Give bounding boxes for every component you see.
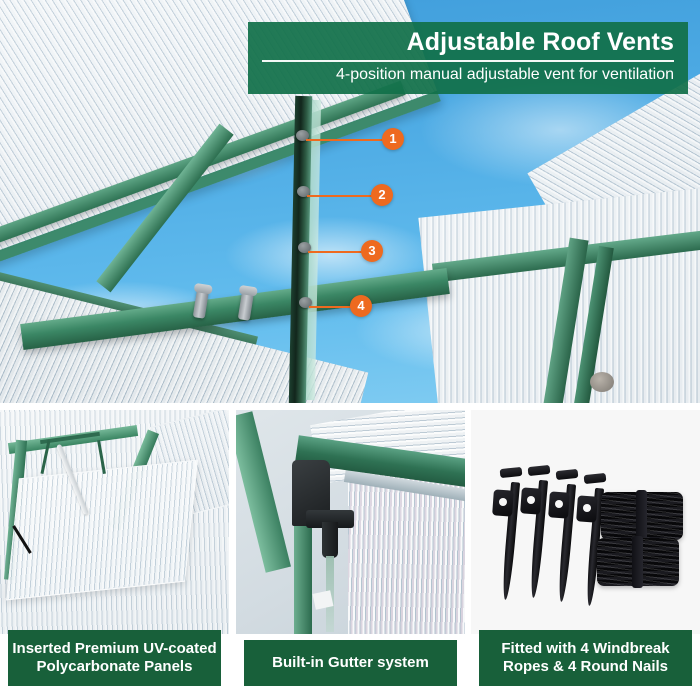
banner-title: Adjustable Roof Vents: [262, 29, 674, 55]
rope-band: [636, 490, 647, 542]
callout-line-1: [306, 139, 392, 141]
roof-vent-panel-photo: [0, 410, 229, 634]
gutter-downspout-photo: [236, 410, 465, 634]
feature-panel-accessories: Fitted with 4 Windbreak Ropes & 4 Round …: [471, 410, 700, 696]
frame-fastener-right: [590, 372, 614, 392]
feature-panel-polycarbonate: Inserted Premium UV-coated Polycarbonate…: [0, 410, 229, 696]
rope-band: [632, 536, 643, 588]
callout-badge-2: 2: [371, 184, 393, 206]
callout-badge-4: 4: [350, 295, 372, 317]
banner-subtitle: 4-position manual adjustable vent for ve…: [262, 66, 674, 84]
panel-caption-polycarbonate: Inserted Premium UV-coated Polycarbonate…: [8, 630, 221, 686]
panel-caption-gutter: Built-in Gutter system: [244, 640, 457, 686]
callout-line-2: [307, 195, 381, 197]
stakes-and-ropes-photo: [471, 410, 700, 634]
windbreak-rope-2: [597, 538, 679, 586]
ground-stake-2-hole: [527, 496, 535, 504]
ground-stake-3-hole: [555, 500, 563, 508]
feature-panels: Inserted Premium UV-coated Polycarbonate…: [0, 406, 700, 700]
product-infographic: 1 2 3 4 Adjustable Roof Vents 4-position…: [0, 0, 700, 700]
polycarbonate-ribs: [7, 461, 197, 600]
ground-stake-1-hole: [499, 498, 507, 506]
panel-caption-accessories: Fitted with 4 Windbreak Ropes & 4 Round …: [479, 630, 692, 686]
ground-stake-4-hole: [583, 504, 591, 512]
windbreak-rope-1: [601, 492, 683, 540]
callout-badge-3: 3: [361, 240, 383, 262]
header-banner: Adjustable Roof Vents 4-position manual …: [248, 22, 688, 94]
callout-badge-1: 1: [382, 128, 404, 150]
inserted-vent-panel: [6, 460, 198, 601]
banner-divider: [262, 60, 674, 62]
hero-image: 1 2 3 4 Adjustable Roof Vents 4-position…: [0, 0, 700, 403]
feature-panel-gutter: Built-in Gutter system: [236, 410, 465, 696]
downspout-outlet: [322, 522, 338, 558]
